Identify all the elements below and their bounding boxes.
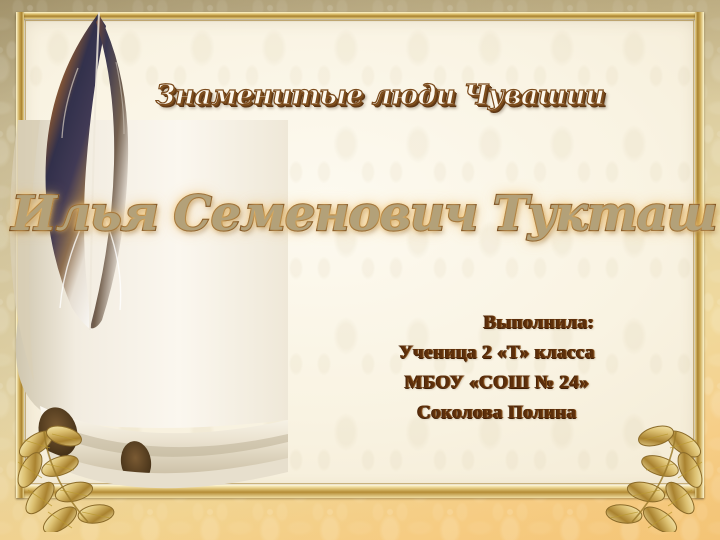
presentation-slide: Знаменитые люди Чувашии Илья Семенович Т… [0, 0, 720, 540]
author-line-name: Соколова Полина [332, 398, 662, 428]
author-line-school: МБОУ «СОШ № 24» [332, 368, 662, 398]
author-block: Выполнила: Ученица 2 «Т» класса МБОУ «СО… [332, 308, 662, 428]
author-line-prepared-by: Выполнила: [332, 308, 662, 338]
author-line-class: Ученица 2 «Т» класса [332, 338, 662, 368]
quill-feather-icon [20, 8, 170, 338]
gold-laurel-left-icon [10, 422, 130, 532]
gold-laurel-right-icon [590, 422, 710, 532]
slide-subtitle: Знаменитые люди Чувашии [0, 80, 720, 111]
slide-main-title: Илья Семенович Тукташ [0, 186, 720, 242]
